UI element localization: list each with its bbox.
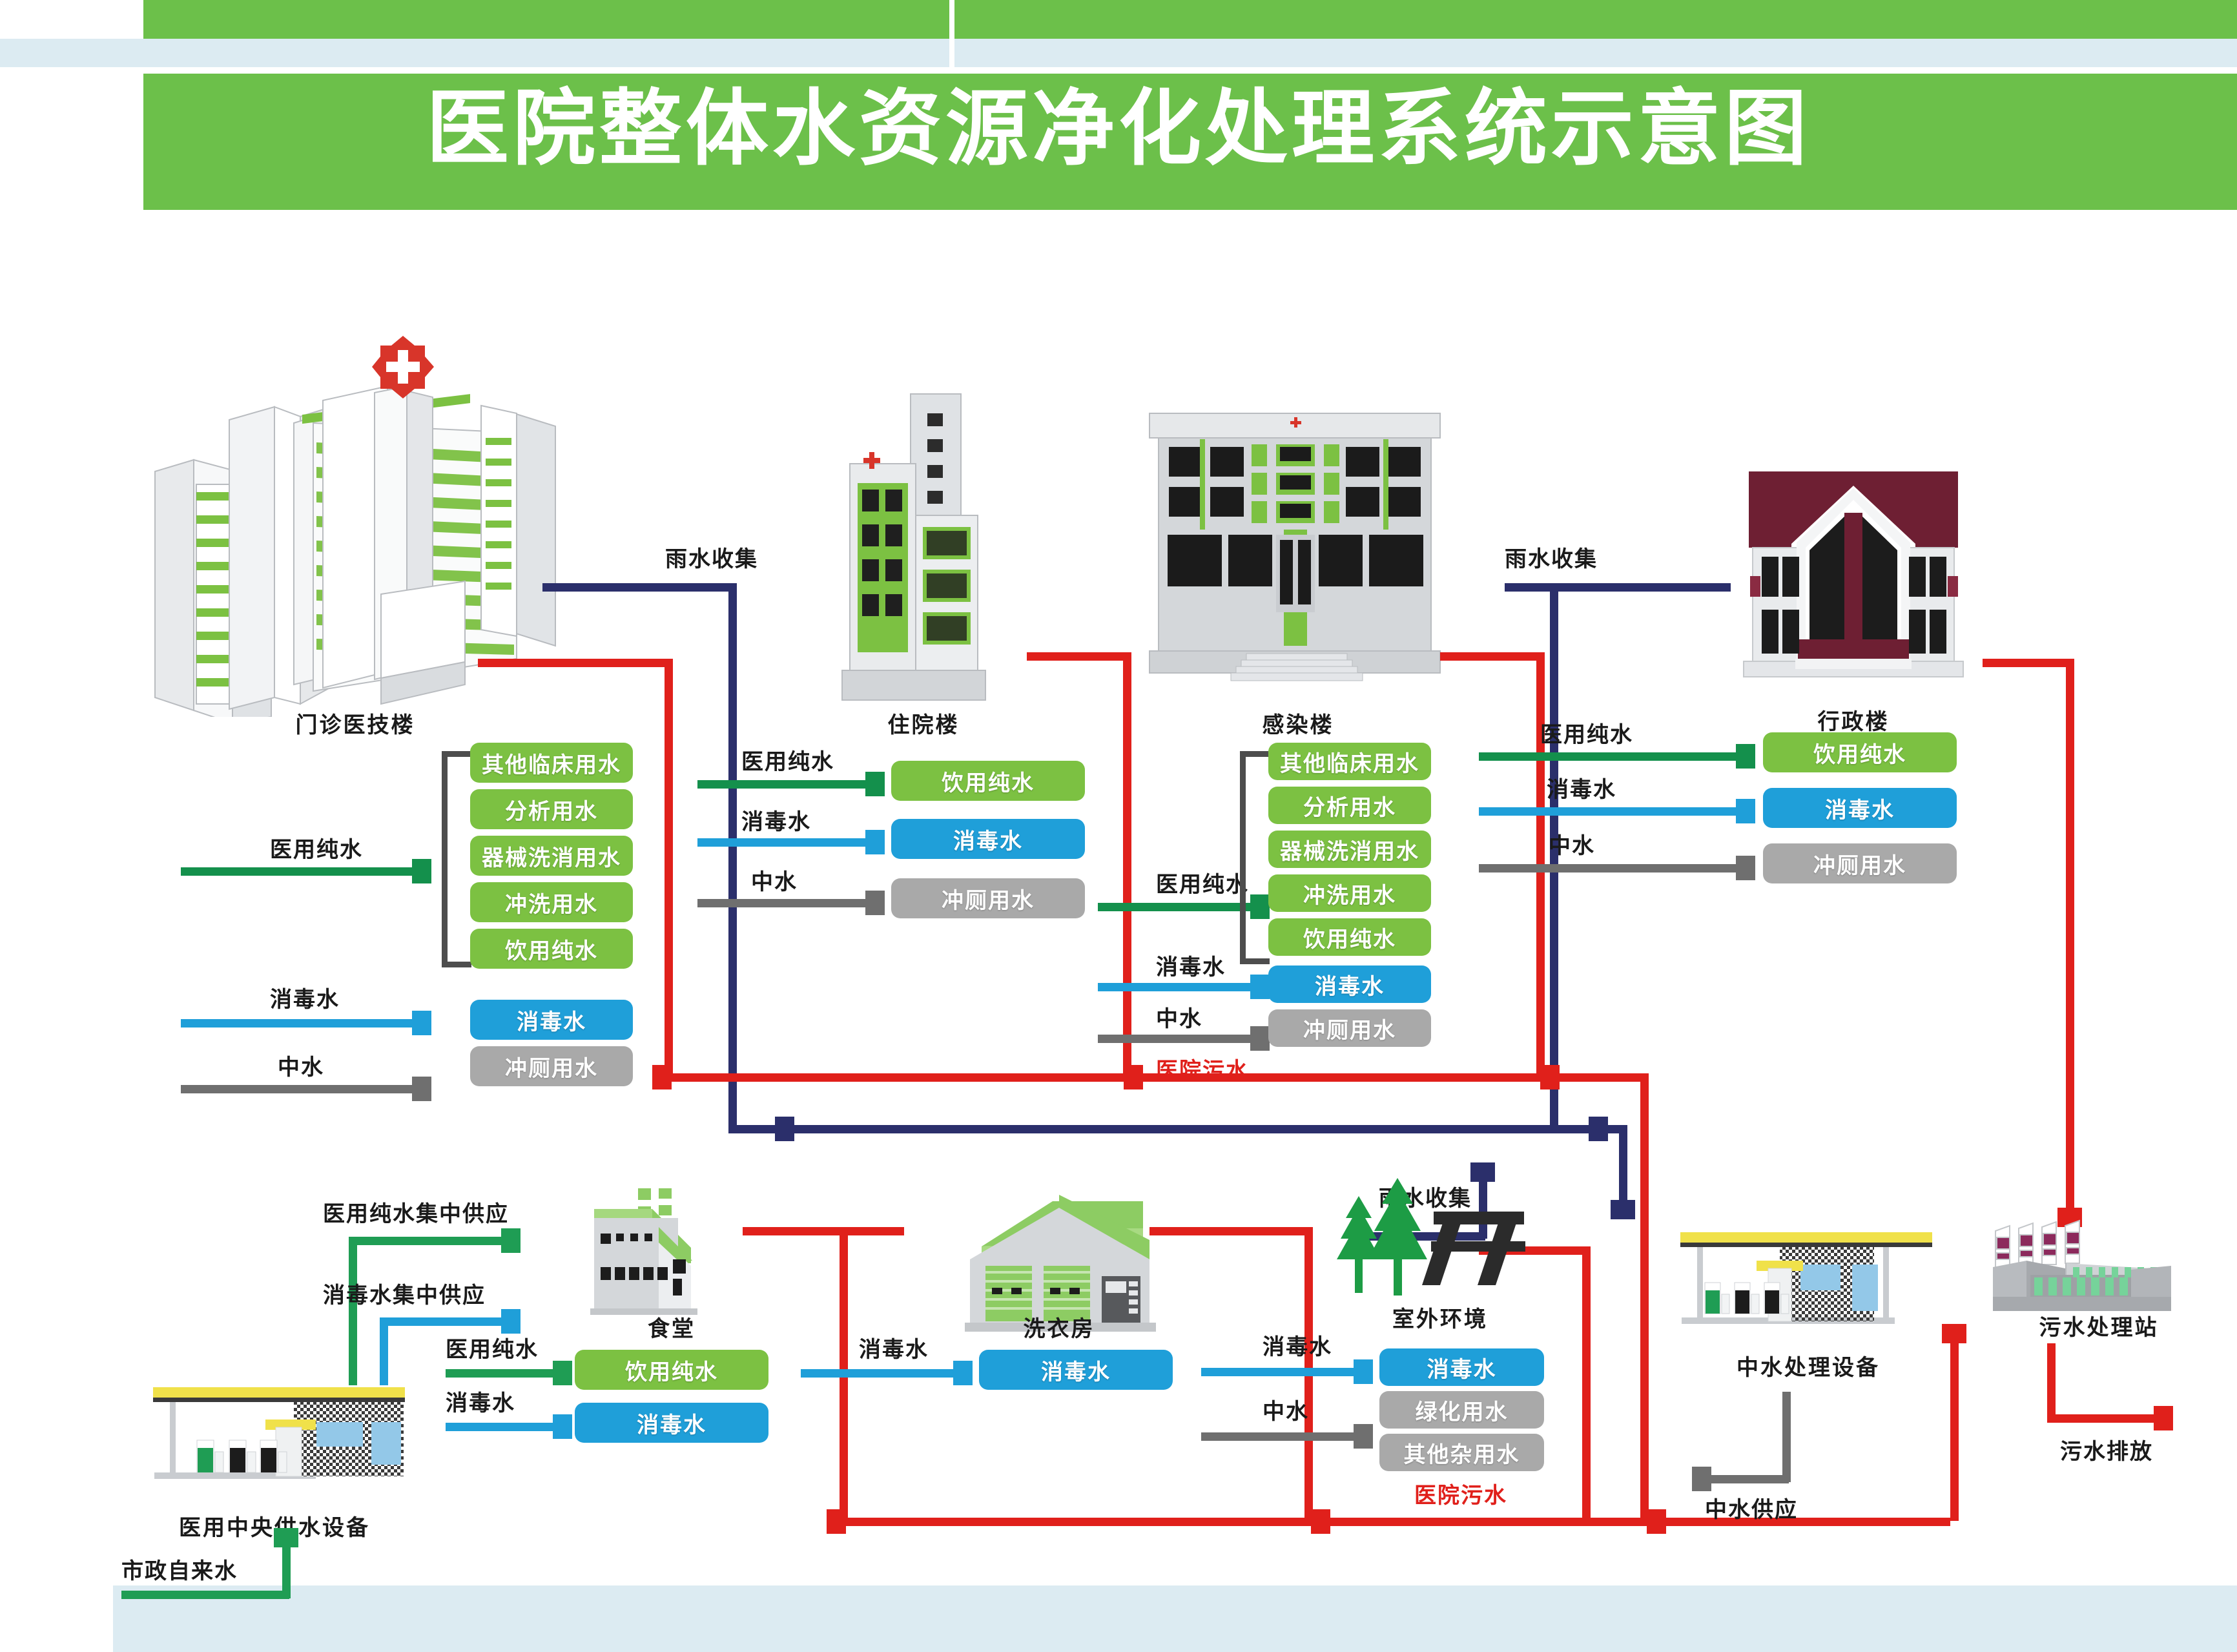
reclaimed-plant-illustration <box>1666 1221 1937 1350</box>
inpatient-building-illustration <box>833 387 1040 717</box>
infection-use-disinfect: 消毒水 <box>1268 965 1431 1003</box>
inpatient-feed-label-pure: 医用纯水 <box>741 744 834 776</box>
outpatient-feed-pure-arrow <box>412 859 431 883</box>
reclaimed-out-arrow <box>1692 1467 1711 1491</box>
outpatient-feed-label-pure: 医用纯水 <box>270 832 363 863</box>
outdoor-sewage-label: 医院污水 <box>1414 1478 1507 1509</box>
sewage-inpatient-h <box>1027 652 1130 661</box>
inpatient-building-label: 住院楼 <box>820 707 1027 739</box>
sewage-discharge-h <box>2047 1414 2157 1423</box>
laundry-feed-label-disinfect: 消毒水 <box>859 1332 929 1363</box>
canteen-use-pure: 饮用纯水 <box>575 1350 768 1390</box>
central-supply-out-pure-h <box>349 1237 504 1245</box>
sewage-discharge-arrow <box>2154 1406 2173 1430</box>
admin-feed-reclaimed-arrow <box>1736 856 1755 880</box>
infection-building-illustration <box>1143 407 1447 710</box>
sewage-discharge-label: 污水排放 <box>2060 1434 2153 1465</box>
central-supply-out-disinfect-v <box>380 1317 388 1385</box>
footer-notch <box>0 1585 113 1652</box>
infection-building-label: 感染楼 <box>1195 707 1401 739</box>
inpatient-use-toilet: 冲厕用水 <box>891 878 1085 918</box>
admin-use-disinfect: 消毒水 <box>1763 788 1957 828</box>
outdoor-feed-label-disinfect: 消毒水 <box>1263 1329 1332 1361</box>
rainwater-label-left: 雨水收集 <box>665 541 758 573</box>
admin-feed-disinfect-arrow <box>1736 799 1755 823</box>
sewage-arrow-b <box>1124 1065 1143 1089</box>
outdoor-label: 室外环境 <box>1359 1301 1521 1333</box>
central-supply-equipment-illustration <box>139 1376 410 1505</box>
inpatient-feed-pure-line <box>697 780 867 789</box>
outpatient-use-0: 其他临床用水 <box>470 743 633 783</box>
admin-feed-disinfect-line <box>1479 807 1737 816</box>
inpatient-feed-disinfect-arrow <box>865 830 885 854</box>
outdoor-feed-label-reclaimed: 中水 <box>1263 1394 1309 1425</box>
admin-feed-label-disinfect: 消毒水 <box>1547 772 1616 803</box>
outpatient-use-1: 分析用水 <box>470 789 633 829</box>
outpatient-feed-label-disinfect: 消毒水 <box>270 982 340 1013</box>
canteen-use-disinfect: 消毒水 <box>575 1403 768 1443</box>
rainwater-collector-line <box>728 1125 1626 1133</box>
admin-feed-pure-line <box>1479 752 1737 761</box>
outpatient-feed-disinfect-line <box>181 1019 413 1027</box>
sewage-outdoor-v <box>1582 1246 1591 1521</box>
sewage-bottom-arrow-b <box>1311 1509 1330 1534</box>
footer-bar <box>0 1585 2237 1652</box>
sewage-admin-v <box>2066 659 2074 1214</box>
laundry-use-disinfect: 消毒水 <box>979 1350 1173 1390</box>
inpatient-feed-reclaimed-arrow <box>865 891 885 915</box>
sewage-arrow-c <box>1540 1065 1560 1089</box>
outpatient-use-toilet: 冲厕用水 <box>470 1046 633 1086</box>
sewage-admin-h <box>1983 659 2073 667</box>
central-supply-out-pure-label: 医用纯水集中供应 <box>323 1196 509 1228</box>
diagram-canvas: 医院整体水资源净化处理系统示意图 <box>0 0 2237 1652</box>
admin-use-toilet: 冲厕用水 <box>1763 843 1957 883</box>
central-supply-out-pure-v <box>349 1237 357 1385</box>
sewage-into-plant-arrow <box>1942 1324 1966 1343</box>
sewage-outpatient-h <box>478 659 672 667</box>
outpatient-use-2: 器械洗消用水 <box>470 836 633 876</box>
page-title: 医院整体水资源净化处理系统示意图 <box>0 61 2237 181</box>
inpatient-use-0: 饮用纯水 <box>891 761 1085 801</box>
outpatient-building-label: 门诊医技楼 <box>239 707 471 739</box>
outdoor-feed-disinfect-line <box>1201 1368 1356 1376</box>
canteen-feed-label-pure: 医用纯水 <box>446 1332 539 1363</box>
infection-feed-reclaimed-arrow <box>1250 1026 1270 1051</box>
infection-feed-disinfect-arrow <box>1250 975 1270 999</box>
outpatient-use-disinfect: 消毒水 <box>470 1000 633 1040</box>
infection-use-2: 器械洗消用水 <box>1268 831 1431 868</box>
laundry-feed-disinfect-arrow <box>953 1361 973 1385</box>
outpatient-feed-label-reclaimed: 中水 <box>278 1049 324 1081</box>
reclaimed-out-label: 中水供应 <box>1705 1492 1798 1523</box>
sewage-main-line-upper <box>659 1073 1647 1082</box>
admin-feed-reclaimed-line <box>1479 864 1737 872</box>
admin-building-label: 行政楼 <box>1744 704 1963 736</box>
canteen-feed-pure-arrow <box>553 1361 572 1385</box>
municipal-water-v <box>282 1547 291 1598</box>
laundry-label: 洗衣房 <box>982 1311 1137 1343</box>
admin-use-0: 饮用纯水 <box>1763 732 1957 772</box>
inpatient-feed-reclaimed-line <box>697 899 867 907</box>
canteen-feed-disinfect-line <box>446 1423 555 1431</box>
infection-use-0: 其他临床用水 <box>1268 743 1431 780</box>
outdoor-feed-reclaimed-line <box>1201 1432 1356 1441</box>
infection-use-3: 冲洗用水 <box>1268 874 1431 912</box>
sewage-laundry-h <box>1149 1227 1311 1235</box>
outdoor-use-misc: 其他杂用水 <box>1379 1434 1544 1471</box>
rainwater-arrow-down <box>1611 1200 1635 1219</box>
infection-feed-disinfect-line <box>1098 983 1252 991</box>
sewage-plant-label: 污水处理站 <box>2002 1310 2196 1341</box>
outpatient-use-3: 冲洗用水 <box>470 882 633 922</box>
inpatient-feed-disinfect-line <box>697 838 867 847</box>
rainwater-arrow-2 <box>1589 1117 1608 1141</box>
outpatient-feed-reclaimed-line <box>181 1085 413 1093</box>
inpatient-use-disinfect: 消毒水 <box>891 819 1085 859</box>
municipal-water-h <box>121 1591 289 1599</box>
outpatient-use-4: 饮用纯水 <box>470 929 633 969</box>
infection-use-4: 饮用纯水 <box>1268 918 1431 956</box>
sewage-discharge-v <box>2047 1343 2056 1421</box>
admin-feed-pure-arrow <box>1736 744 1755 769</box>
outpatient-feed-reclaimed-arrow <box>412 1077 431 1101</box>
outpatient-building-illustration <box>129 310 581 717</box>
sewage-main-down <box>1640 1073 1649 1525</box>
infection-feed-pure-line <box>1098 903 1252 911</box>
canteen-feed-pure-line <box>446 1369 555 1378</box>
sewage-arrow-a <box>652 1065 672 1089</box>
infection-use-bracket <box>1240 751 1270 964</box>
admin-feed-label-pure: 医用纯水 <box>1540 717 1633 749</box>
central-supply-out-disinfect-arrow <box>501 1309 521 1334</box>
outpatient-feed-disinfect-arrow <box>412 1011 431 1035</box>
rainwater-label-right: 雨水收集 <box>1505 541 1598 573</box>
municipal-water-label: 市政自来水 <box>121 1553 238 1585</box>
laundry-feed-disinfect-line <box>801 1369 956 1378</box>
infection-feed-label-disinfect: 消毒水 <box>1156 949 1226 981</box>
sewage-outpatient-v <box>665 659 673 1079</box>
central-supply-out-pure-arrow <box>501 1228 521 1253</box>
infection-sewage-label: 医院污水 <box>1156 1053 1249 1084</box>
inpatient-feed-label-reclaimed: 中水 <box>751 864 798 896</box>
outdoor-feed-disinfect-arrow <box>1354 1359 1373 1384</box>
rainwater-trunk-right-a <box>1505 583 1731 592</box>
reclaimed-out-h <box>1711 1475 1789 1483</box>
inpatient-feed-pure-arrow <box>865 772 885 796</box>
outdoor-use-disinfect: 消毒水 <box>1379 1348 1544 1386</box>
canteen-feed-disinfect-arrow <box>553 1414 572 1439</box>
canteen-label: 食堂 <box>601 1311 743 1343</box>
outdoor-use-green: 绿化用水 <box>1379 1391 1544 1429</box>
sewage-inpatient-v <box>1123 652 1131 1079</box>
inpatient-feed-label-disinfect: 消毒水 <box>741 804 811 836</box>
admin-feed-label-reclaimed: 中水 <box>1549 828 1595 860</box>
rainwater-down-to-plant <box>1619 1125 1627 1203</box>
infection-use-1: 分析用水 <box>1268 787 1431 824</box>
reclaimed-plant-label: 中水处理设备 <box>1685 1350 1931 1381</box>
infection-feed-label-reclaimed: 中水 <box>1156 1001 1202 1033</box>
admin-building-illustration <box>1731 446 1976 704</box>
central-supply-out-disinfect-h <box>380 1317 504 1326</box>
municipal-water-arrow <box>274 1528 298 1547</box>
rainwater-arrow-1 <box>775 1117 794 1141</box>
banner-notch-top-left <box>0 0 143 39</box>
infection-feed-reclaimed-line <box>1098 1035 1252 1043</box>
infection-feed-label-pure: 医用纯水 <box>1156 867 1249 898</box>
rainwater-trunk-left-a <box>542 583 736 592</box>
infection-use-toilet: 冲厕用水 <box>1268 1009 1431 1047</box>
central-supply-out-disinfect-label: 消毒水集中供应 <box>323 1277 486 1309</box>
outpatient-use-bracket <box>442 751 471 967</box>
rainwater-drop-left <box>728 583 737 1129</box>
sewage-into-plant-v <box>1950 1343 1959 1521</box>
sewage-bottom-arrow-c <box>1647 1509 1666 1534</box>
sewage-infection-h <box>1440 652 1543 661</box>
outdoor-feed-reclaimed-arrow <box>1354 1424 1373 1449</box>
outpatient-feed-pure-line <box>181 867 413 876</box>
canteen-feed-label-disinfect: 消毒水 <box>446 1385 515 1417</box>
reclaimed-out-v <box>1782 1392 1791 1482</box>
